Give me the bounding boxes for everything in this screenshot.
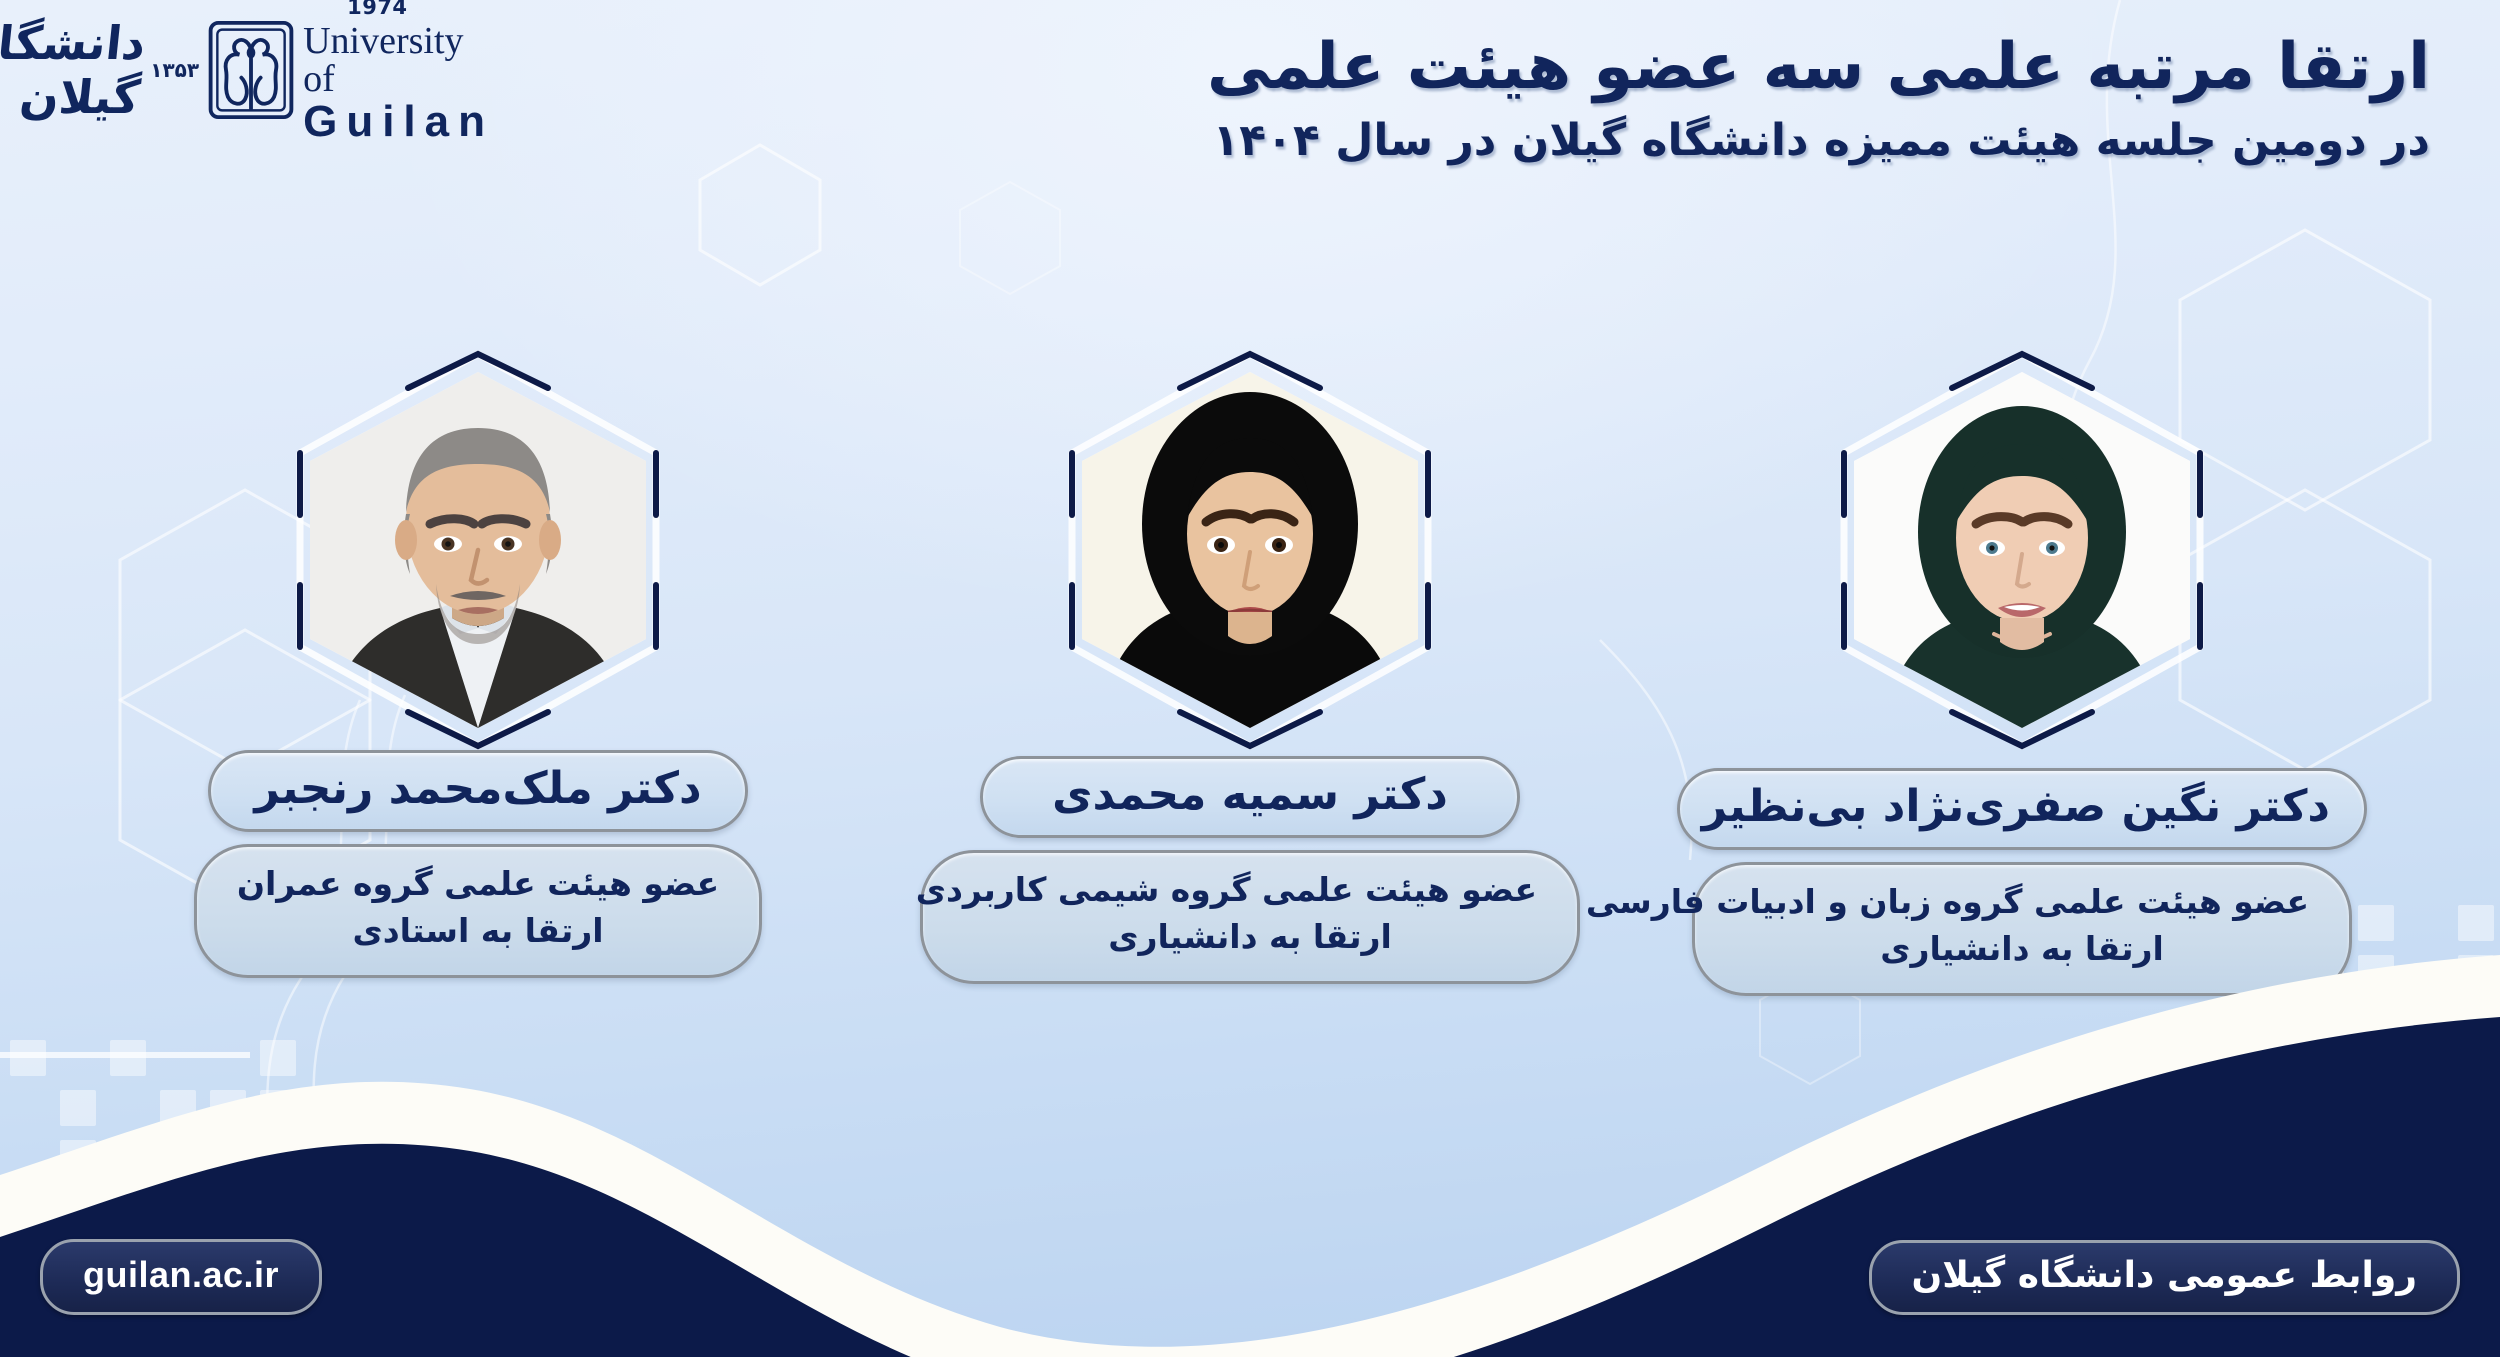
person-card: دکتر نگین صفری‌نژاد بی‌نظیر عضو هیئت علم… (1672, 350, 2372, 996)
portrait-hexagon-frame (288, 350, 668, 750)
logo-english-text: 1974 University of Guilan (303, 0, 498, 144)
poster-canvas: 1974 University of Guilan ۱۳۵۳ دانشگاه گ… (0, 0, 2500, 1357)
guilan-emblem-icon (205, 20, 297, 120)
portrait-hexagon-frame (1060, 350, 1440, 750)
logo-founding-year-en: 1974 (347, 0, 494, 18)
logo-name-fa: دانشگاه گیلان (0, 16, 148, 124)
logo-persian-text: ۱۳۵۳ دانشگاه گیلان (0, 16, 199, 124)
website-pill[interactable]: guilan.ac.ir (40, 1239, 322, 1315)
person-name: دکتر سمیه محمدی (980, 756, 1520, 838)
people-row: دکتر نگین صفری‌نژاد بی‌نظیر عضو هیئت علم… (0, 350, 2500, 996)
person-card: دکتر سمیه محمدی عضو هیئت علمی گروه شیمی … (900, 350, 1600, 996)
public-relations-pill[interactable]: روابط عمومی دانشگاه گیلان (1869, 1240, 2460, 1315)
person-affiliation: عضو هیئت علمی گروه زبان و ادبیات فارسی (1735, 879, 2309, 926)
header-titles: ارتقا مرتبه علمی سه عضو هیئت علمی در دوم… (930, 28, 2430, 169)
website-url: guilan.ac.ir (83, 1254, 279, 1295)
university-logo: 1974 University of Guilan ۱۳۵۳ دانشگاه گ… (28, 10, 498, 130)
person-affiliation: عضو هیئت علمی گروه عمران (237, 861, 719, 908)
person-name: دکتر نگین صفری‌نژاد بی‌نظیر (1677, 768, 2367, 850)
person-affiliation: عضو هیئت علمی گروه شیمی کاربردی (963, 867, 1537, 914)
logo-line1-en: University of (303, 22, 494, 98)
logo-founding-year-fa: ۱۳۵۳ (150, 58, 199, 82)
person-name: دکتر ملک‌محمد رنجبر (208, 750, 748, 832)
page-subtitle: در دومین جلسه هیئت ممیزه دانشگاه گیلان د… (930, 112, 2430, 169)
portrait-hexagon-frame (1832, 350, 2212, 750)
page-title: ارتقا مرتبه علمی سه عضو هیئت علمی (930, 28, 2430, 106)
public-relations-label: روابط عمومی دانشگاه گیلان (1912, 1255, 2417, 1296)
person-card: دکتر ملک‌محمد رنجبر عضو هیئت علمی گروه ع… (128, 350, 828, 996)
logo-line2-en: Guilan (303, 100, 494, 144)
